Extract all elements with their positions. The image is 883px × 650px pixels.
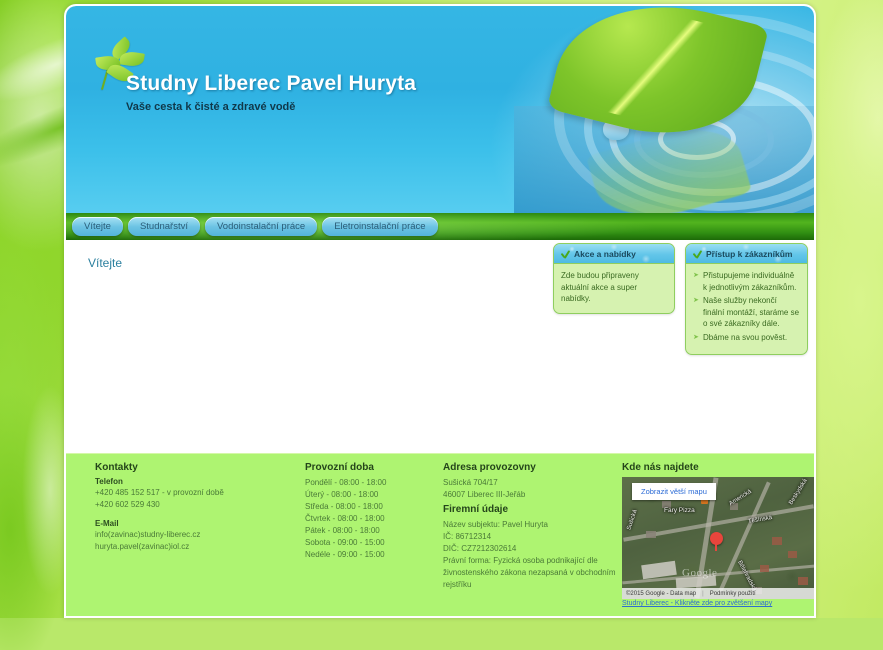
- main-navigation: Vítejte Studnařství Vodoinstalační práce…: [66, 213, 814, 240]
- info-box-title: Přístup k zákazníkům: [706, 249, 792, 259]
- map-pin-icon: [710, 532, 723, 545]
- company-detail-dic: DIČ: CZ7212302614: [443, 543, 618, 555]
- leaf-icon: [119, 50, 145, 67]
- site-container: Studny Liberec Pavel Huryta Vaše cesta k…: [64, 4, 816, 618]
- site-banner: Studny Liberec Pavel Huryta Vaše cesta k…: [66, 6, 814, 213]
- footer-label-telefon: Telefon: [95, 477, 295, 486]
- list-item: ➤ Dbáme na svou pověst.: [693, 332, 800, 344]
- company-detail-ic: IČ: 86712314: [443, 531, 618, 543]
- site-footer: Kontakty Telefon +420 485 152 517 - v pr…: [66, 453, 814, 618]
- footer-column-adresa: Adresa provozovny Sušická 704/17 46007 L…: [443, 462, 618, 591]
- footer-bottom-note: [66, 613, 814, 618]
- list-item-label: Naše služby nekončí finální montáží, sta…: [703, 296, 799, 328]
- address-line: Sušická 704/17: [443, 477, 618, 489]
- map-building: [788, 551, 797, 558]
- map-building: [772, 537, 782, 545]
- enlarge-map-link[interactable]: Studny Liberec - Klikněte zde pro zvětše…: [622, 600, 816, 607]
- banner-titles: Studny Liberec Pavel Huryta Vaše cesta k…: [126, 72, 416, 113]
- footer-heading-firemni-udaje: Firemní údaje: [443, 504, 618, 515]
- check-icon: [692, 249, 701, 258]
- footer-email: info(zavinac)studny-liberec.cz: [95, 529, 295, 541]
- info-box-title: Akce a nabídky: [574, 249, 636, 259]
- info-box-header: Přístup k zákazníkům: [686, 244, 807, 264]
- list-item-label: Dbáme na svou pověst.: [703, 333, 787, 342]
- info-box-body: ➤ Přistupujeme individuálně k jednotlivý…: [686, 264, 807, 354]
- opening-hours-row: Pátek - 08:00 - 18:00: [305, 525, 435, 537]
- nav-item-studnarstvi[interactable]: Studnařství: [128, 217, 200, 236]
- check-icon: [560, 249, 569, 258]
- opening-hours-row: Úterý - 08:00 - 18:00: [305, 489, 435, 501]
- footer-heading-provozni-doba: Provozní doba: [305, 462, 435, 473]
- info-box-header: Akce a nabídky: [554, 244, 674, 264]
- opening-hours-row: Nedéle - 09:00 - 15:00: [305, 549, 435, 561]
- nav-item-eletroinstalacni-prace[interactable]: Eletroinstalační práce: [322, 217, 437, 236]
- info-box-pristup-k-zakaznikum: Přístup k zákazníkům ➤ Přistupujeme indi…: [685, 243, 808, 355]
- divider: |: [702, 591, 704, 597]
- map-building: [646, 531, 656, 538]
- spacer: [95, 511, 295, 519]
- opening-hours-row: Čtvrtek - 08:00 - 18:00: [305, 513, 435, 525]
- company-detail: Název subjektu: Pavel Huryta: [443, 519, 618, 531]
- nav-item-vodoinstalacni-prace[interactable]: Vodoinstalační práce: [205, 217, 317, 236]
- map-attribution-bar: ©2015 Google - Data map | Podmínky použi…: [622, 588, 815, 599]
- list-item-label: Přistupujeme individuálně k jednotlivým …: [703, 271, 796, 292]
- opening-hours-row: Středa - 08:00 - 18:00: [305, 501, 435, 513]
- opening-hours-row: Pondělí - 08:00 - 18:00: [305, 477, 435, 489]
- map-widget[interactable]: Americká Beskydská Těšínská Bělehradská …: [622, 477, 815, 599]
- map-copyright: ©2015 Google - Data map: [626, 591, 696, 597]
- footer-heading-kontakty: Kontakty: [95, 462, 295, 473]
- footer-heading-kde-nas-najdete: Kde nás najdete: [622, 462, 816, 473]
- company-detail-legal-form: Právní forma: Fyzická osoba podnikající …: [443, 555, 618, 591]
- nav-item-vitejte[interactable]: Vítejte: [72, 217, 123, 236]
- map-building: [760, 565, 769, 572]
- footer-column-provozni-doba: Provozní doba Pondělí - 08:00 - 18:00 Út…: [305, 462, 435, 561]
- show-bigger-map-button[interactable]: Zobrazit větší mapu: [632, 483, 716, 500]
- footer-heading-adresa: Adresa provozovny: [443, 462, 618, 473]
- list-item: ➤ Přistupujeme individuálně k jednotlivý…: [693, 270, 800, 293]
- list-item: ➤ Naše služby nekončí finální montáží, s…: [693, 295, 800, 330]
- info-box-body: Zde budou připraveny aktuální akce a sup…: [554, 264, 674, 313]
- arrow-bullet-icon: ➤: [693, 333, 699, 343]
- map-building: [798, 577, 808, 585]
- arrow-bullet-icon: ➤: [693, 296, 699, 306]
- info-box-text: Zde budou připraveny aktuální akce a sup…: [561, 270, 667, 305]
- site-tagline: Vaše cesta k čisté a zdravé vodě: [126, 101, 416, 113]
- google-watermark: Google: [682, 567, 717, 579]
- footer-column-mapa: Kde nás najdete Americká Beskydská: [622, 462, 816, 607]
- arrow-bullet-icon: ➤: [693, 271, 699, 281]
- footer-phone: +420 602 529 430: [95, 499, 295, 511]
- footer-phone: +420 485 152 517 - v provozní době: [95, 487, 295, 499]
- main-content: Vítejte Akce a nabídky Zde budou připrav…: [66, 240, 814, 453]
- address-line: 46007 Liberec III-Jeřáb: [443, 489, 618, 501]
- footer-column-kontakty: Kontakty Telefon +420 485 152 517 - v pr…: [95, 462, 295, 553]
- benefit-list: ➤ Přistupujeme individuálně k jednotlivý…: [693, 270, 800, 344]
- site-title: Studny Liberec Pavel Huryta: [126, 72, 416, 96]
- map-poi-label: Fary Pizza: [664, 507, 695, 514]
- footer-email: huryta.pavel(zavinac)iol.cz: [95, 541, 295, 553]
- map-terms-link[interactable]: Podmínky použití: [710, 591, 756, 597]
- footer-label-email: E-Mail: [95, 519, 295, 528]
- opening-hours-row: Sobota - 09:00 - 15:00: [305, 537, 435, 549]
- info-box-akce-a-nabidky: Akce a nabídky Zde budou připraveny aktu…: [553, 243, 675, 314]
